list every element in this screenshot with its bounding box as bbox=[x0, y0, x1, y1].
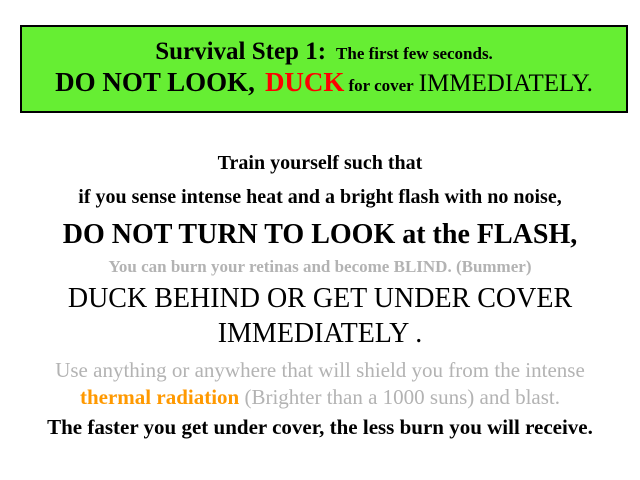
duck-emphasis-text: DUCK bbox=[265, 67, 345, 97]
banner-line-1: Survival Step 1:The first few seconds. bbox=[26, 39, 622, 65]
immediately-header-text: IMMEDIATELY. bbox=[419, 70, 593, 97]
slide-canvas: Survival Step 1:The first few seconds. D… bbox=[0, 0, 640, 480]
survival-step-subtitle: The first few seconds. bbox=[336, 44, 493, 63]
for-cover-text: for cover bbox=[348, 76, 413, 95]
line-immediately: IMMEDIATELY . bbox=[0, 317, 640, 351]
body-content: Train yourself such that if you sense in… bbox=[0, 150, 640, 441]
header-banner: Survival Step 1:The first few seconds. D… bbox=[20, 25, 628, 113]
thermal-radiation-suffix: (Brighter than a 1000 suns) and blast. bbox=[244, 385, 560, 409]
line-use-anything-shield: Use anything or anywhere that will shiel… bbox=[0, 357, 640, 384]
line-if-you-sense: if you sense intense heat and a bright f… bbox=[0, 184, 640, 211]
banner-line-2: DO NOT LOOK,DUCKfor coverIMMEDIATELY. bbox=[26, 68, 622, 97]
do-not-look-text: DO NOT LOOK, bbox=[55, 67, 255, 97]
line-duck-behind-cover: DUCK BEHIND OR GET UNDER COVER bbox=[0, 282, 640, 316]
thermal-radiation-emphasis: thermal radiation bbox=[80, 385, 239, 409]
line-faster-less-burn: The faster you get under cover, the less… bbox=[0, 414, 640, 441]
line-train-yourself: Train yourself such that bbox=[0, 150, 640, 177]
line-burn-retinas-warning: You can burn your retinas and become BLI… bbox=[0, 256, 640, 278]
survival-step-title: Survival Step 1: bbox=[155, 38, 326, 65]
line-thermal-radiation: thermal radiation (Brighter than a 1000 … bbox=[0, 384, 640, 411]
line-do-not-turn-to-look: DO NOT TURN TO LOOK at the FLASH, bbox=[0, 217, 640, 253]
